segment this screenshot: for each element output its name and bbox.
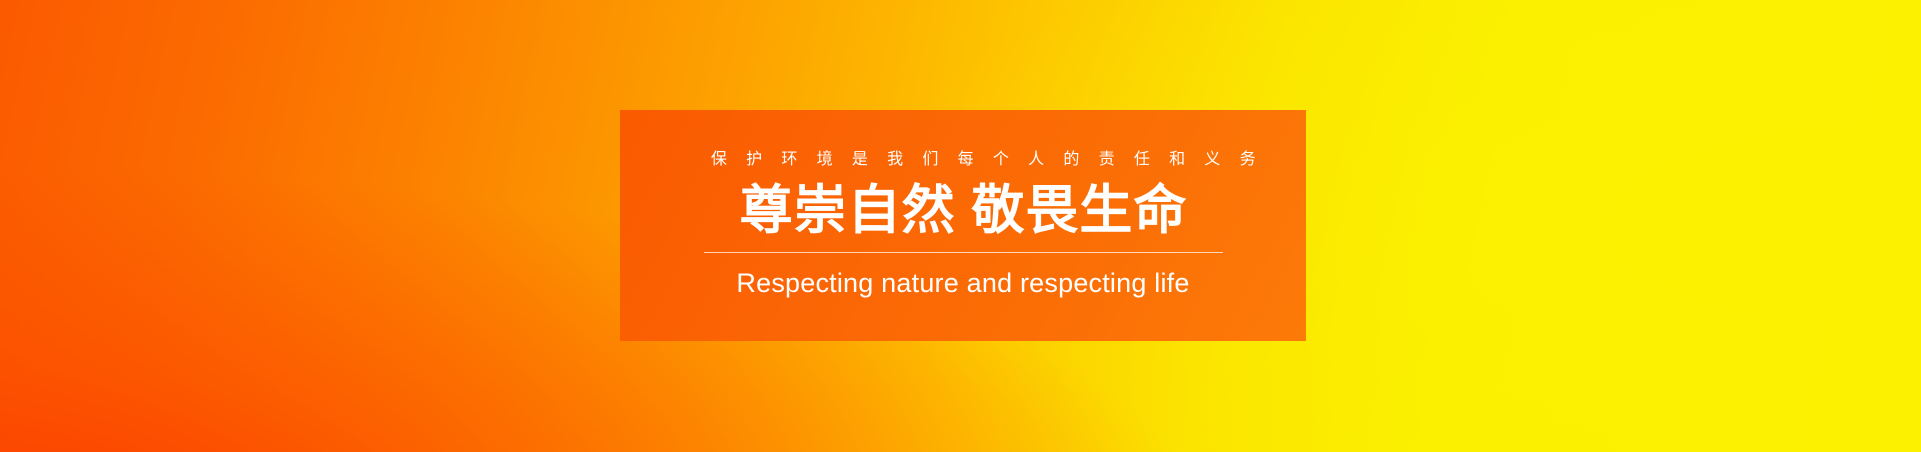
banner-tagline-text: Respecting nature and respecting life bbox=[704, 269, 1223, 299]
banner-message-card: 保 护 环 境 是 我 们 每 个 人 的 责 任 和 义 务 尊崇自然 敬畏生… bbox=[620, 110, 1306, 341]
environment-awareness-banner: 保 护 环 境 是 我 们 每 个 人 的 责 任 和 义 务 尊崇自然 敬畏生… bbox=[0, 0, 1921, 452]
banner-divider bbox=[704, 252, 1223, 253]
banner-message-card-content: 保 护 环 境 是 我 们 每 个 人 的 责 任 和 义 务 尊崇自然 敬畏生… bbox=[704, 152, 1223, 299]
banner-eyebrow-text: 保 护 环 境 是 我 们 每 个 人 的 责 任 和 义 务 bbox=[704, 152, 1223, 168]
banner-headline-text: 尊崇自然 敬畏生命 bbox=[704, 184, 1223, 238]
